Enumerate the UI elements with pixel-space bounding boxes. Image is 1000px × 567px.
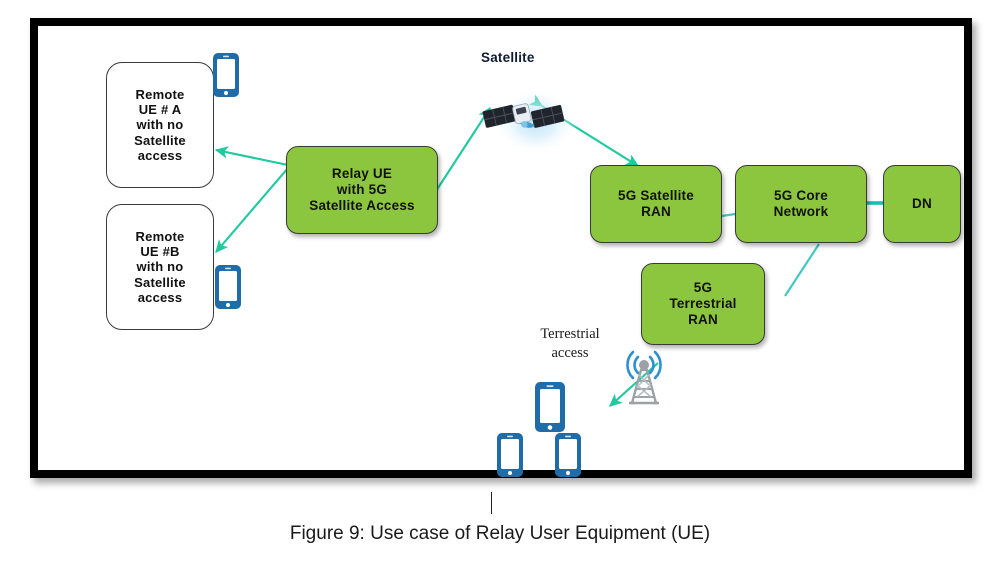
figure-page: Remote UE # A with no Satellite access R…	[0, 0, 1000, 567]
terrestrial-access-label: Terrestrial access	[528, 325, 612, 362]
link-remoteB-relay	[216, 168, 288, 252]
smartphone-icon-remote-a	[212, 52, 240, 98]
node-relay-ue[interactable]: Relay UE with 5G Satellite Access	[286, 146, 438, 234]
link-satran-core	[722, 214, 735, 216]
node-5g-core-network[interactable]: 5G Core Network	[735, 165, 867, 243]
node-remote-ue-a[interactable]: Remote UE # A with no Satellite access	[106, 62, 214, 188]
satellite-label: Satellite	[481, 50, 535, 65]
smartphone-icon-remote-b	[214, 264, 242, 310]
node-5g-satellite-ran[interactable]: 5G Satellite RAN	[590, 165, 722, 243]
node-dn[interactable]: DN	[883, 165, 961, 243]
link-core-terrran	[785, 244, 819, 296]
figure-caption: Figure 9: Use case of Relay User Equipme…	[0, 523, 1000, 545]
smartphone-icon-terrestrial-1	[534, 381, 566, 433]
diagram-canvas: Remote UE # A with no Satellite access R…	[38, 26, 964, 470]
smartphone-icon-terrestrial-3	[554, 432, 582, 478]
link-remoteA-relay	[216, 150, 288, 165]
satellite-icon	[482, 89, 578, 155]
node-5g-terrestrial-ran[interactable]: 5G Terrestrial RAN	[641, 263, 765, 345]
figure-frame: Remote UE # A with no Satellite access R…	[30, 18, 972, 478]
smartphone-icon-terrestrial-2	[496, 432, 524, 478]
link-relay-satellite	[438, 108, 490, 188]
text-cursor	[491, 492, 492, 514]
cell-tower-icon	[627, 352, 660, 403]
node-remote-ue-b[interactable]: Remote UE #B with no Satellite access	[106, 204, 214, 330]
